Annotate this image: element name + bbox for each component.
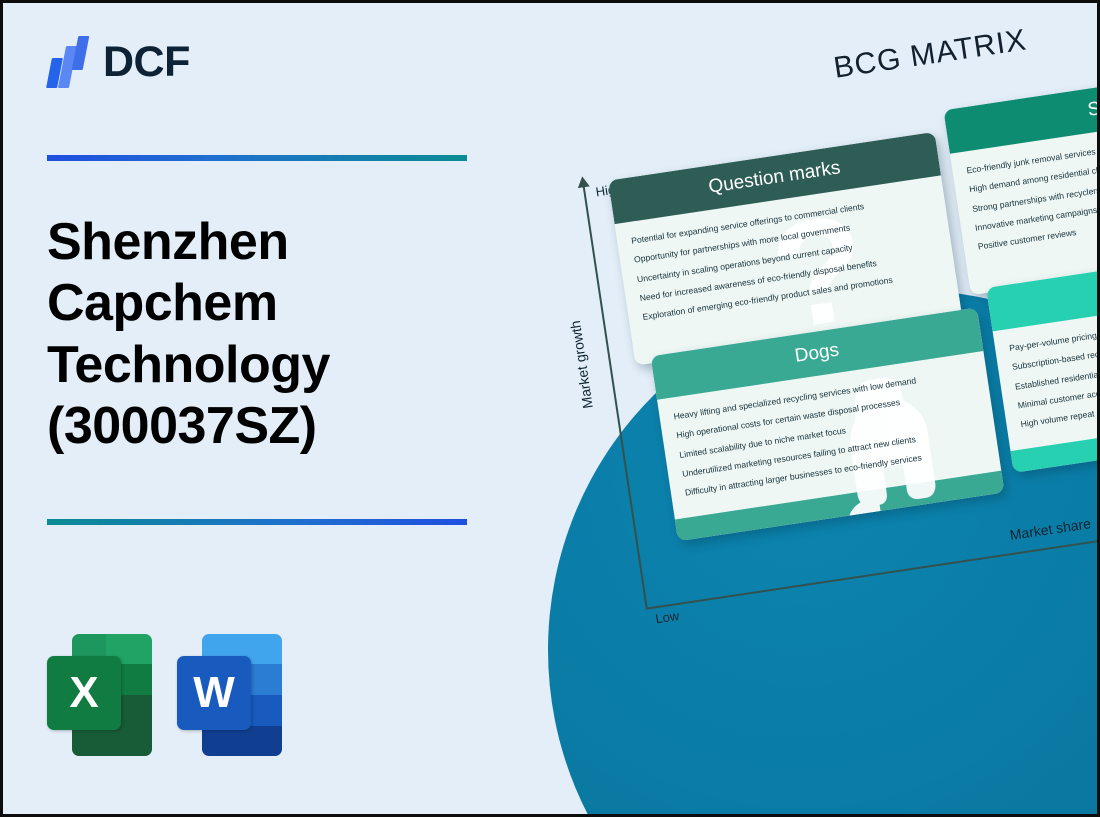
divider-top xyxy=(47,155,467,161)
download-icons: X W xyxy=(47,628,282,756)
y-axis-label: Market growth xyxy=(567,320,596,410)
divider-bottom xyxy=(47,519,467,525)
matrix-heading: BCG MATRIX xyxy=(832,23,1029,85)
dcf-bars-icon xyxy=(47,36,91,88)
quadrant-stars[interactable]: Stars ★ Eco-friendly junk removal servic… xyxy=(943,62,1100,295)
matrix-stage: BCG MATRIX High Low Market growth Market… xyxy=(530,0,1100,817)
bcg-matrix-graphic: BCG MATRIX High Low Market growth Market… xyxy=(530,0,1100,817)
word-letter: W xyxy=(177,656,251,730)
slide-root: DCF Shenzhen Capchem Technology (300037S… xyxy=(0,0,1100,817)
word-band-4 xyxy=(202,726,282,756)
excel-letter: X xyxy=(47,656,121,730)
logo-bar-3 xyxy=(72,36,90,70)
x-axis-label: Market share xyxy=(1009,515,1092,543)
excel-band-4 xyxy=(72,726,152,756)
x-axis-line xyxy=(646,538,1100,609)
brand-logo[interactable]: DCF xyxy=(47,36,190,88)
left-panel: DCF Shenzhen Capchem Technology (300037S… xyxy=(0,0,530,817)
y-axis-low-label: Low xyxy=(654,608,680,626)
word-file-icon[interactable]: W xyxy=(177,628,282,756)
brand-name: DCF xyxy=(103,41,190,84)
page-title: Shenzhen Capchem Technology (300037SZ) xyxy=(47,212,477,457)
excel-file-icon[interactable]: X xyxy=(47,628,152,756)
